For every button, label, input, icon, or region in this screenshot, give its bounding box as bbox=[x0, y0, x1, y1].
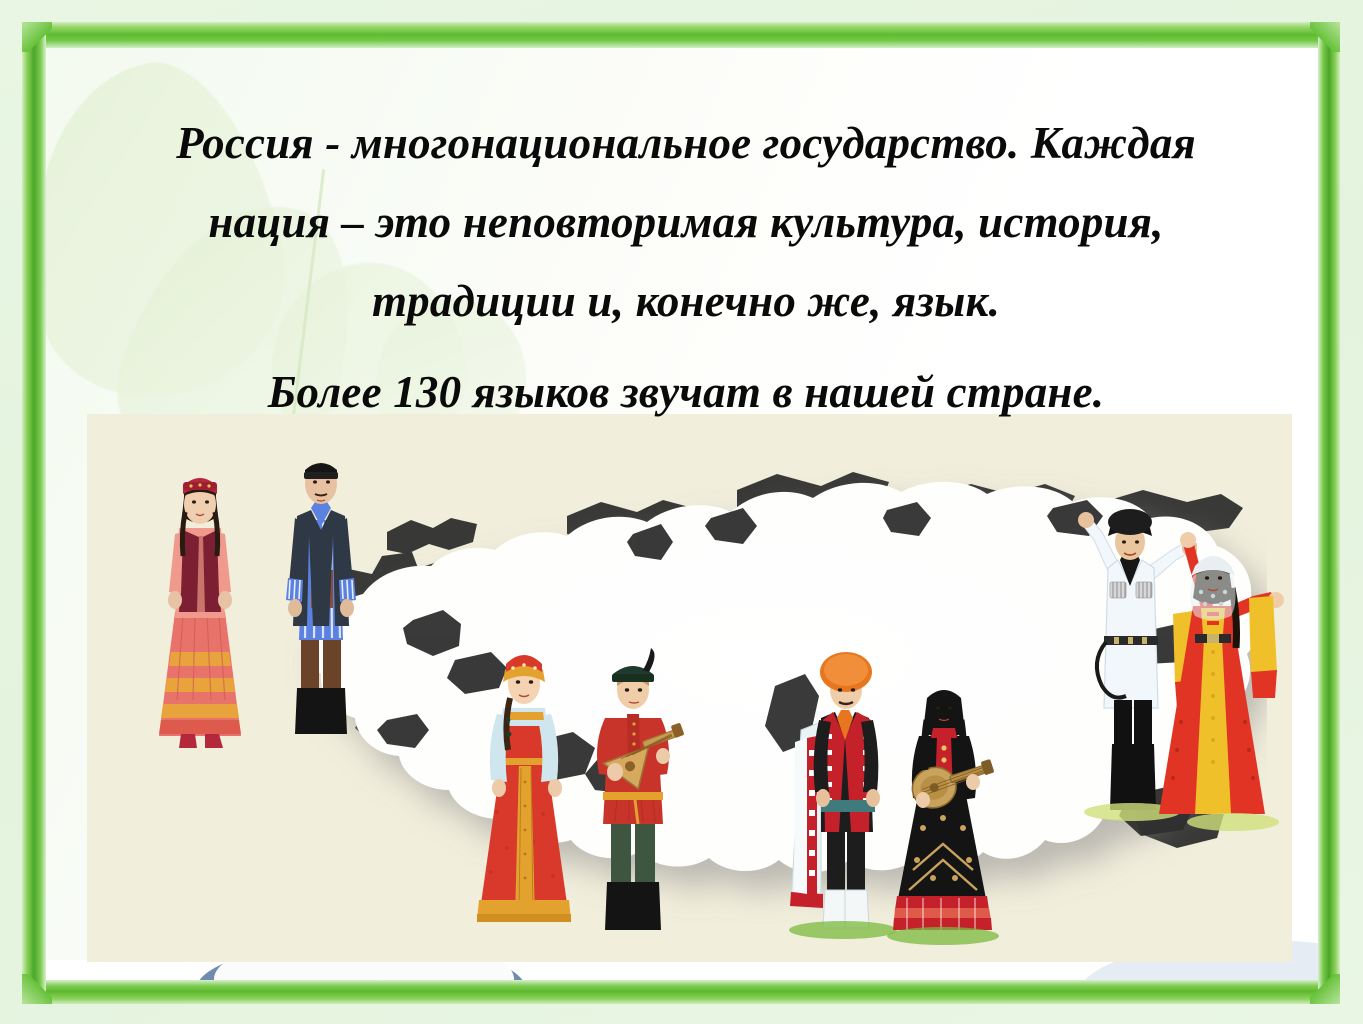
headline-line-2: нация – это неповторимая культура, истор… bbox=[86, 183, 1286, 262]
frame-border-right bbox=[1318, 22, 1340, 1004]
bottom-white-strip bbox=[46, 960, 1318, 980]
headline-line-1: Россия - многонациональное государство. … bbox=[86, 104, 1286, 183]
figure-tatar-man bbox=[265, 444, 375, 754]
presentation-slide: Россия - многонациональное государство. … bbox=[0, 0, 1363, 1024]
headline-line-3: традиции и, конечно же, язык. bbox=[86, 262, 1286, 341]
headline-block: Россия - многонациональное государство. … bbox=[86, 104, 1286, 435]
figure-russian-woman bbox=[467, 642, 582, 952]
slide-frame: Россия - многонациональное государство. … bbox=[22, 22, 1340, 1004]
figure-bashkir-woman bbox=[887, 664, 1002, 954]
figure-bashkir-man bbox=[777, 646, 897, 946]
headline-line-4: Более 130 языков звучат в нашей стране. bbox=[86, 341, 1286, 435]
frame-border-bottom bbox=[22, 980, 1340, 1004]
figure-caucasian-woman bbox=[1137, 522, 1287, 842]
figure-tatar-woman bbox=[145, 452, 255, 752]
frame-border-top bbox=[22, 22, 1340, 48]
slide-canvas: Россия - многонациональное государство. … bbox=[46, 48, 1318, 980]
frame-border-left bbox=[22, 22, 46, 1004]
figure-russian-man bbox=[577, 648, 687, 948]
illustration-panel bbox=[87, 414, 1292, 962]
